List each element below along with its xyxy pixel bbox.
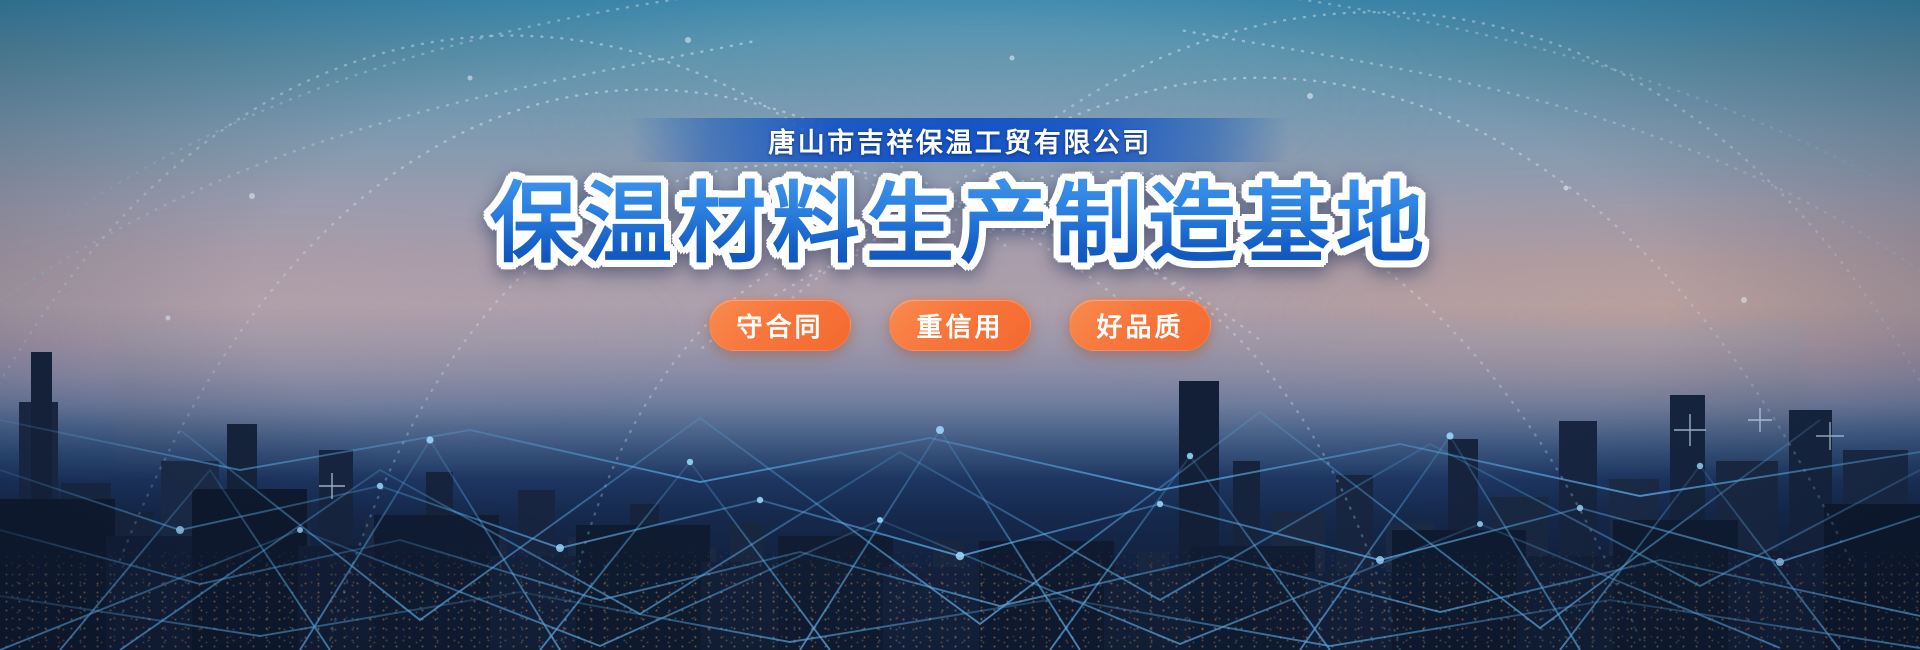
badge-zhong-xin-yong[interactable]: 重信用	[889, 299, 1031, 351]
badge-list: 守合同 重信用 好品质	[709, 299, 1211, 351]
company-name-bar: 唐山市吉祥保温工贸有限公司	[630, 118, 1290, 162]
headline-title: 保温材料生产制造基地	[490, 176, 1430, 271]
hero-banner: 唐山市吉祥保温工贸有限公司 保温材料生产制造基地 守合同 重信用 好品质	[0, 0, 1920, 650]
badge-hao-pin-zhi[interactable]: 好品质	[1069, 299, 1211, 351]
badge-shou-he-tong[interactable]: 守合同	[709, 299, 851, 351]
banner-content: 唐山市吉祥保温工贸有限公司 保温材料生产制造基地 守合同 重信用 好品质	[0, 0, 1920, 650]
company-name: 唐山市吉祥保温工贸有限公司	[768, 121, 1152, 160]
